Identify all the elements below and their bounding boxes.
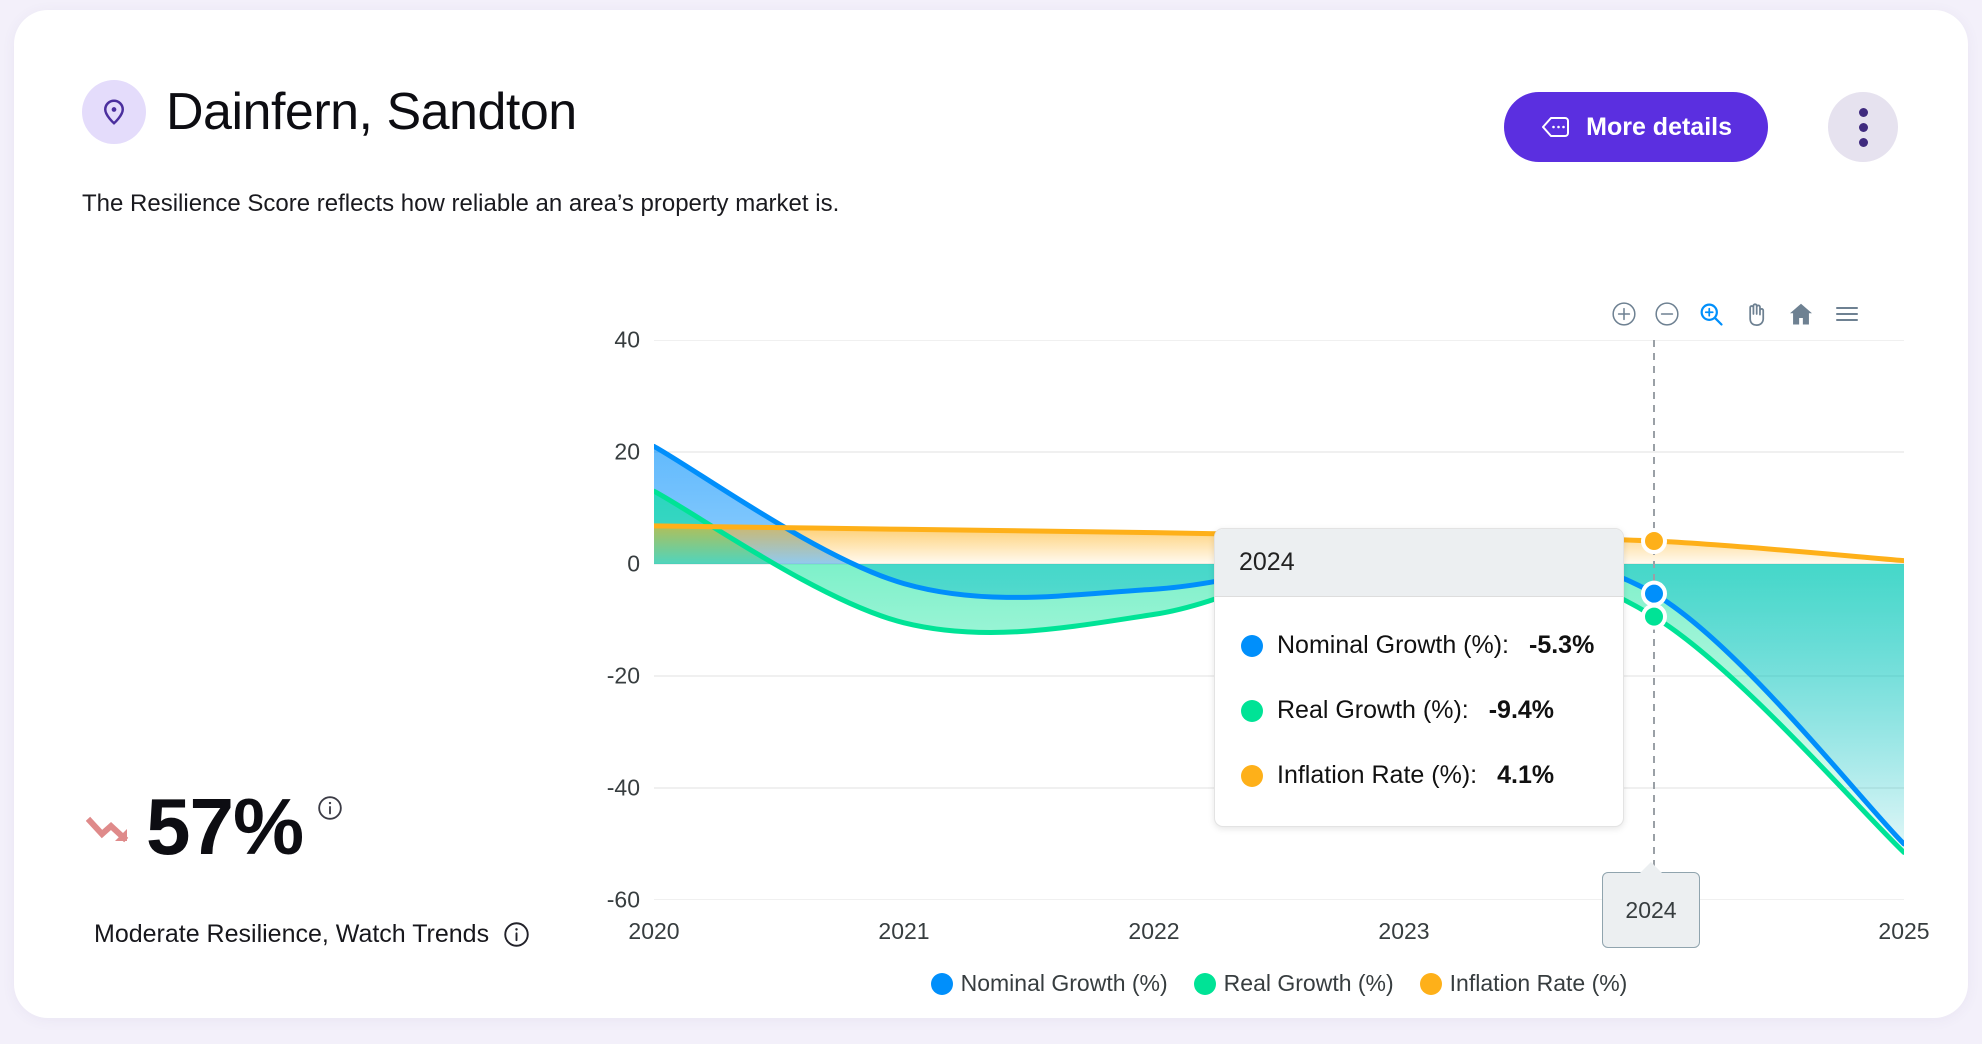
legend-label-real: Real Growth (%) bbox=[1224, 970, 1394, 997]
tag-message-icon bbox=[1540, 114, 1570, 140]
chart-marker[interactable] bbox=[1643, 606, 1665, 628]
chart-toolbar bbox=[1611, 300, 1862, 328]
resilience-score-value: 57% bbox=[146, 785, 303, 869]
tooltip-title: 2024 bbox=[1215, 529, 1623, 597]
tooltip-value-real: -9.4% bbox=[1489, 696, 1554, 725]
menu-icon[interactable] bbox=[1832, 302, 1862, 326]
page-subtitle: The Resilience Score reflects how reliab… bbox=[82, 188, 839, 220]
resilience-card: Dainfern, Sandton The Resilience Score r… bbox=[14, 10, 1968, 1018]
legend-label-inflation: Inflation Rate (%) bbox=[1450, 970, 1628, 997]
chart-legend: Nominal Growth (%) Real Growth (%) Infla… bbox=[654, 970, 1904, 997]
score-info-icon[interactable] bbox=[317, 795, 343, 821]
x-tick-2025: 2025 bbox=[1878, 918, 1929, 945]
x-tick-2022: 2022 bbox=[1128, 918, 1179, 945]
tooltip-value-nominal: -5.3% bbox=[1529, 631, 1594, 660]
caption-info-icon[interactable] bbox=[503, 921, 530, 948]
legend-dot-inflation bbox=[1420, 973, 1442, 995]
resilience-caption-row: Moderate Resilience, Watch Trends bbox=[94, 920, 530, 949]
more-details-button[interactable]: More details bbox=[1504, 92, 1768, 162]
home-reset-icon[interactable] bbox=[1787, 300, 1815, 328]
legend-label-nominal: Nominal Growth (%) bbox=[961, 970, 1168, 997]
y-tick-3: -20 bbox=[607, 663, 640, 690]
x-axis-tooltip: 2024 bbox=[1602, 872, 1700, 948]
kebab-dot-3 bbox=[1859, 138, 1868, 147]
legend-item-real[interactable]: Real Growth (%) bbox=[1194, 970, 1394, 997]
zoom-in-icon[interactable] bbox=[1611, 301, 1637, 327]
tooltip-label-real: Real Growth (%): bbox=[1277, 696, 1469, 725]
x-tick-2020: 2020 bbox=[628, 918, 679, 945]
tooltip-row-inflation: Inflation Rate (%): 4.1% bbox=[1215, 743, 1623, 808]
kebab-dot-1 bbox=[1859, 108, 1868, 117]
tooltip-row-real: Real Growth (%): -9.4% bbox=[1215, 678, 1623, 743]
tooltip-label-inflation: Inflation Rate (%): bbox=[1277, 761, 1477, 790]
kebab-menu-button[interactable] bbox=[1828, 92, 1898, 162]
resilience-score-row: 57% bbox=[86, 785, 343, 869]
x-tick-2021: 2021 bbox=[878, 918, 929, 945]
tooltip-label-nominal: Nominal Growth (%): bbox=[1277, 631, 1509, 660]
legend-item-nominal[interactable]: Nominal Growth (%) bbox=[931, 970, 1168, 997]
page-title: Dainfern, Sandton bbox=[166, 76, 577, 148]
y-tick-1: 20 bbox=[614, 439, 640, 466]
map-pin-badge bbox=[82, 80, 146, 144]
selection-zoom-icon[interactable] bbox=[1697, 300, 1725, 328]
legend-dot-real bbox=[1194, 973, 1216, 995]
more-details-label: More details bbox=[1586, 113, 1732, 142]
map-pin-icon bbox=[99, 97, 129, 127]
y-tick-4: -40 bbox=[607, 775, 640, 802]
y-tick-5: -60 bbox=[607, 887, 640, 914]
tooltip-dot-real bbox=[1241, 700, 1263, 722]
kebab-dot-2 bbox=[1859, 123, 1868, 132]
chart-tooltip: 2024 Nominal Growth (%): -5.3% Real Grow… bbox=[1214, 528, 1624, 827]
panning-icon[interactable] bbox=[1742, 300, 1770, 328]
y-tick-0: 40 bbox=[614, 327, 640, 354]
tooltip-rows: Nominal Growth (%): -5.3% Real Growth (%… bbox=[1215, 597, 1623, 826]
tooltip-value-inflation: 4.1% bbox=[1497, 761, 1554, 790]
legend-dot-nominal bbox=[931, 973, 953, 995]
y-tick-2: 0 bbox=[627, 551, 640, 578]
chart-marker[interactable] bbox=[1643, 583, 1665, 605]
tooltip-dot-nominal bbox=[1241, 635, 1263, 657]
resilience-caption: Moderate Resilience, Watch Trends bbox=[94, 920, 489, 949]
tooltip-row-nominal: Nominal Growth (%): -5.3% bbox=[1215, 613, 1623, 678]
tooltip-dot-inflation bbox=[1241, 765, 1263, 787]
trend-down-arrow-icon bbox=[86, 807, 132, 847]
x-tick-2023: 2023 bbox=[1378, 918, 1429, 945]
zoom-out-icon[interactable] bbox=[1654, 301, 1680, 327]
chart-marker[interactable] bbox=[1643, 530, 1665, 552]
legend-item-inflation[interactable]: Inflation Rate (%) bbox=[1420, 970, 1628, 997]
